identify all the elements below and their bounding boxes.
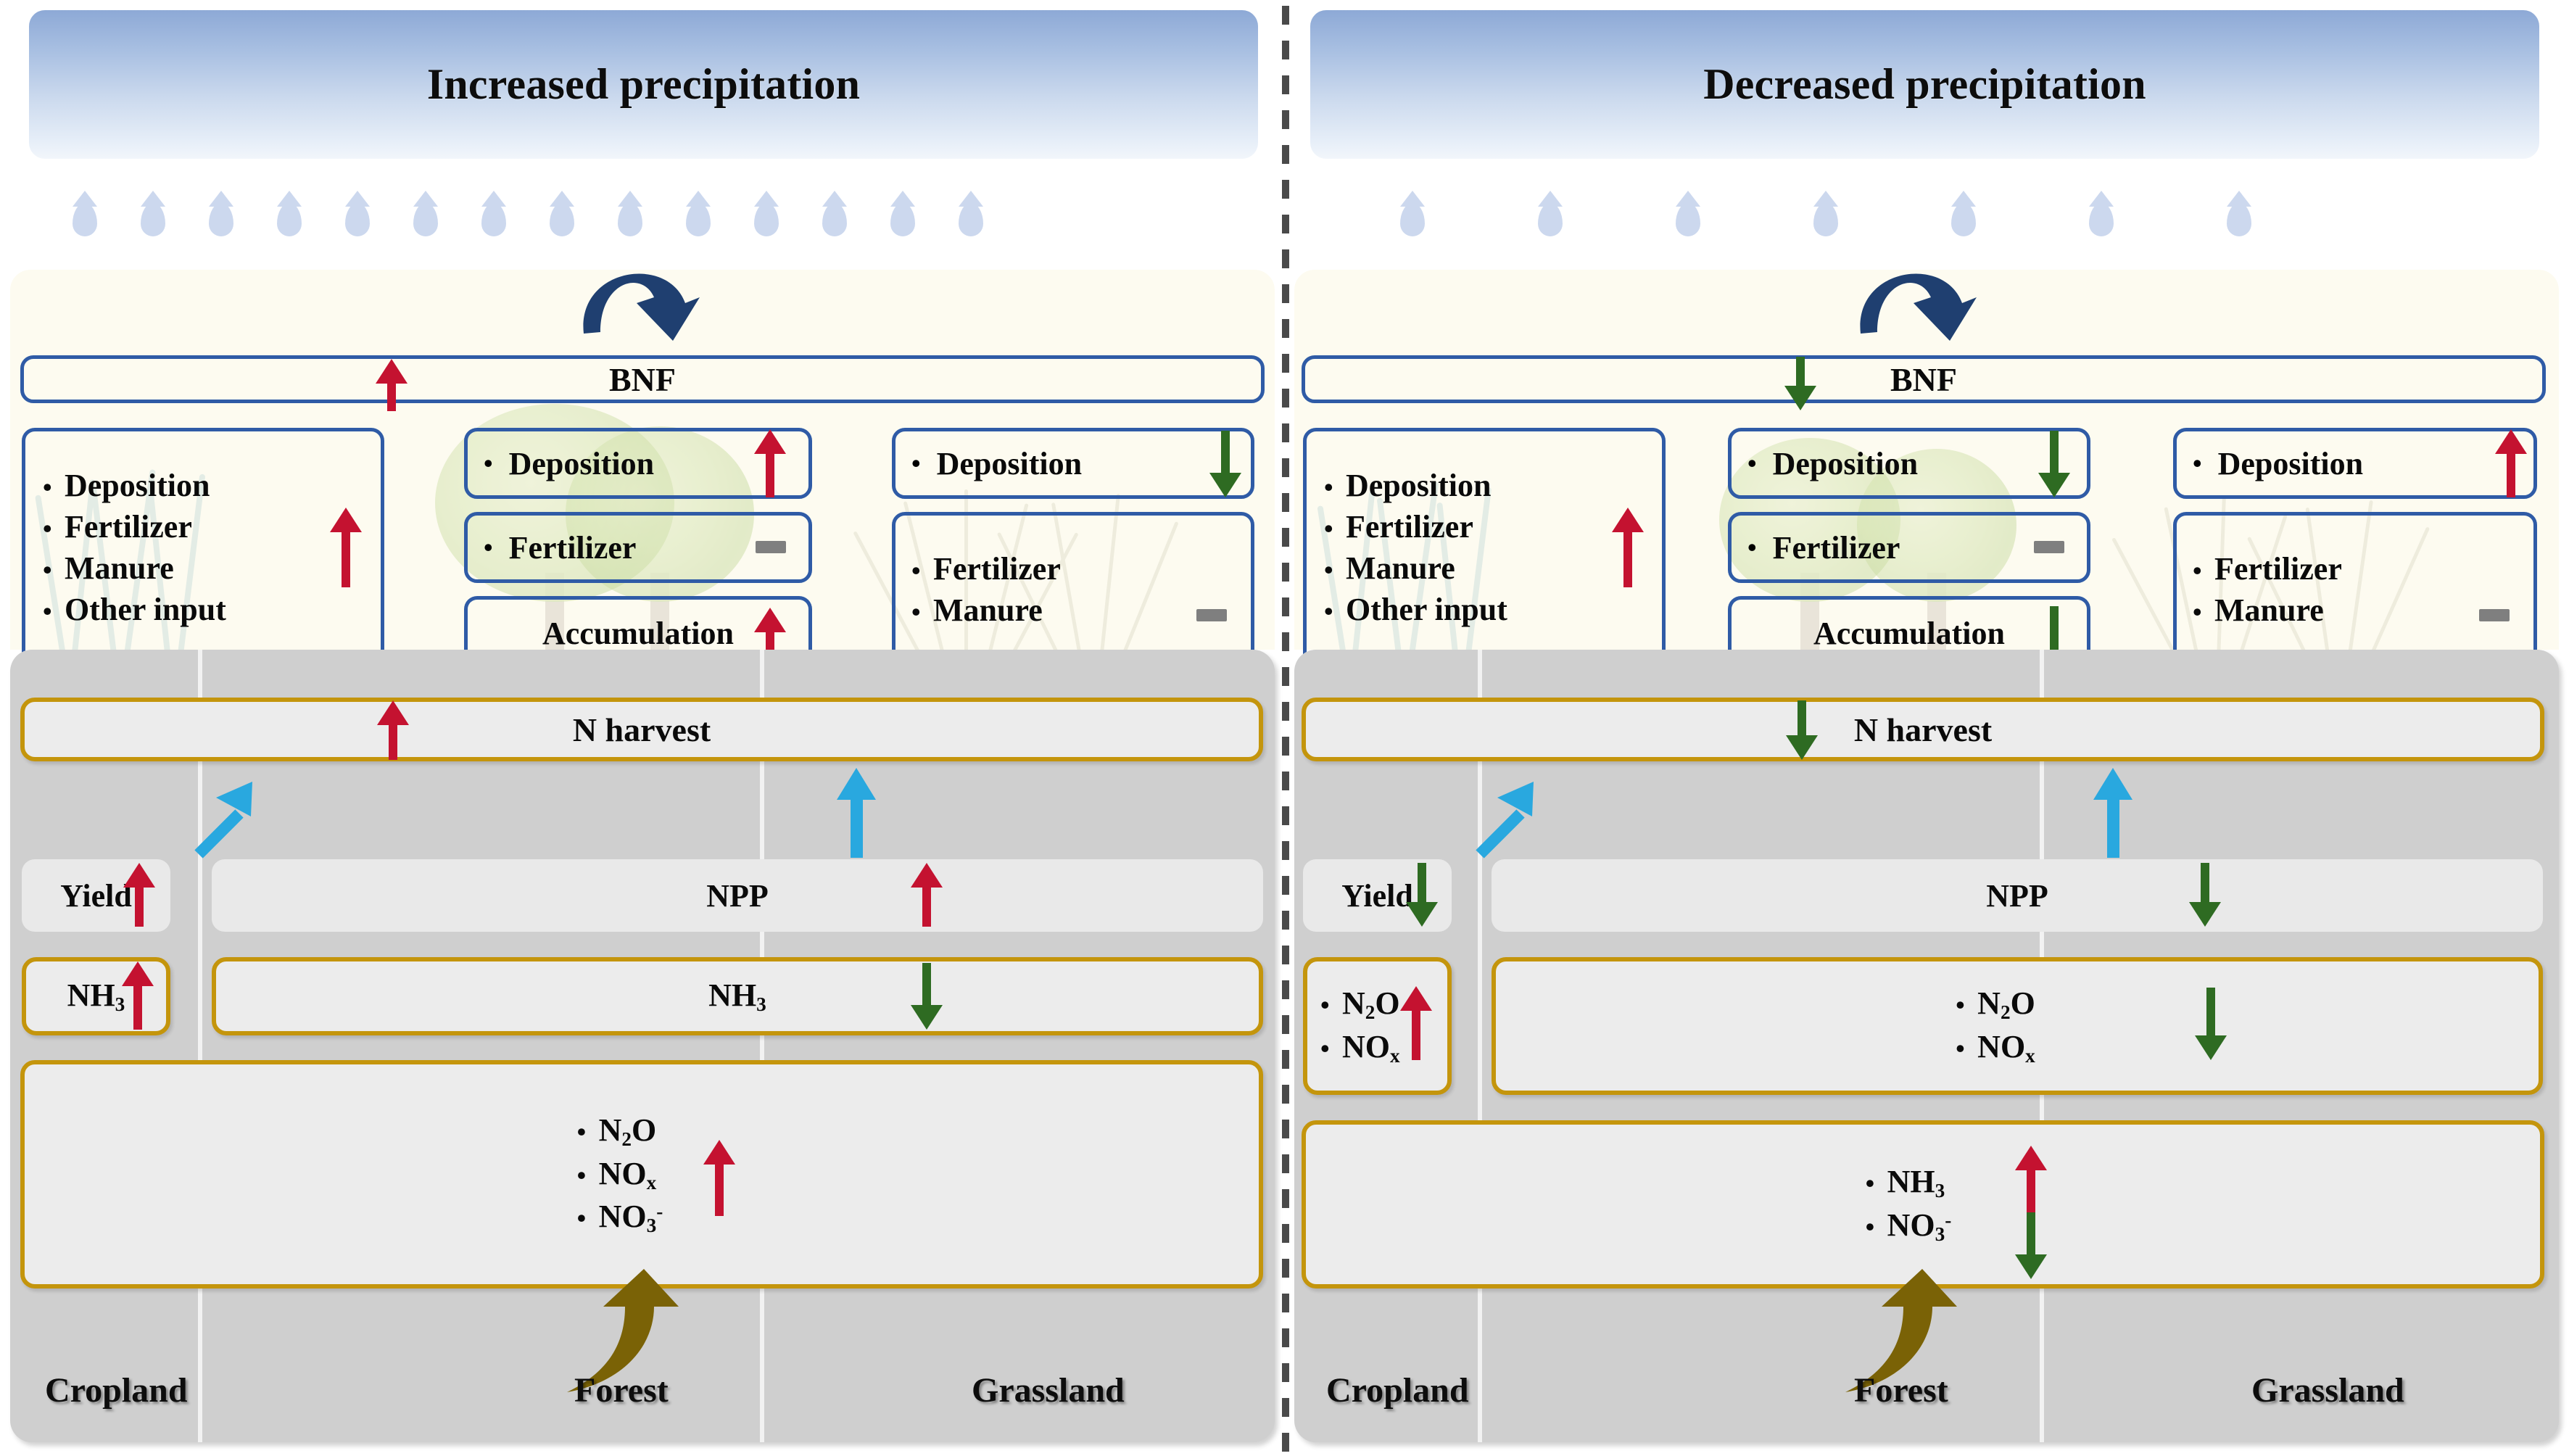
yield-label: Yield [1341, 877, 1413, 914]
n-harvest-label: N harvest [1854, 711, 1992, 749]
n-loss-increase-arrow [703, 1140, 735, 1216]
raindrop-icon [1813, 203, 1838, 236]
forest-gas-box-increased: NH3 [212, 957, 1263, 1035]
raindrop-icon [141, 203, 165, 236]
cropland-input-item: Fertilizer [65, 506, 192, 547]
raindrop-icon [413, 203, 438, 236]
bnf-box-increased: BNF [20, 355, 1265, 403]
cropland-gas-list: •N2O •NOx [1320, 983, 1400, 1069]
forest-uptake-arrow-increased [831, 765, 882, 859]
forest-deposition-decrease-arrow [2038, 431, 2070, 497]
raindrop-icon [686, 203, 711, 236]
cropland-input-item: Manure [65, 547, 174, 589]
forest-accumulation-label: Accumulation [1813, 615, 2005, 652]
bnf-decrease-arrow [1784, 357, 1816, 410]
precipitation-curved-arrow-decreased [1821, 247, 1995, 348]
grassland-input-item: Fertilizer [2214, 548, 2342, 590]
grassland-input-item: Manure [2214, 590, 2324, 631]
n-harvest-increase-arrow [377, 700, 409, 760]
forest-fertilizer-label: Fertilizer [509, 529, 637, 566]
ecosystem-label-cropland: Cropland [45, 1370, 188, 1410]
cropland-input-increase-arrow [330, 508, 362, 587]
grassland-deposition-box-decreased: • Deposition [2173, 428, 2537, 499]
n-loss-list-decreased: •NH3 •NO3- [1866, 1161, 1952, 1247]
forest-gas-decrease-arrow [911, 963, 943, 1030]
yield-decrease-arrow [1406, 863, 1438, 927]
n-loss-increase-arrow-decreased [2015, 1146, 2047, 1212]
forest-gas-list: •N2O •NOx [1956, 983, 2035, 1069]
cropland-gas-label: NH3 [67, 977, 125, 1016]
n-harvest-box-decreased: N harvest [1302, 698, 2544, 761]
grassland-input-list: •Fertilizer •Manure [2193, 548, 2342, 631]
forest-accumulation-label: Accumulation [542, 615, 734, 652]
grassland-input-no-change-dash [2479, 609, 2510, 621]
forest-gas-label: NH3 [708, 977, 766, 1016]
forest-fertilizer-no-change-dash [2034, 541, 2064, 553]
raindrop-icon [890, 203, 915, 236]
n-loss-decrease-arrow-decreased [2015, 1212, 2047, 1279]
cropland-uptake-arrow-decreased [1464, 769, 1551, 859]
n-harvest-label: N harvest [573, 711, 711, 749]
cropland-input-increase-arrow [1612, 508, 1644, 587]
grassland-deposition-increase-arrow [2495, 429, 2527, 497]
cropland-input-item: Manure [1346, 547, 1455, 589]
raindrop-icon [754, 203, 779, 236]
npp-box-increased: NPP [212, 859, 1263, 932]
cropland-input-box-decreased: •Deposition •Fertilizer •Manure •Other i… [1303, 428, 1666, 667]
grassland-deposition-decrease-arrow [1209, 431, 1241, 497]
forest-uptake-arrow-decreased [2088, 765, 2138, 859]
n-loss-item: N2O [599, 1109, 657, 1153]
increased-precipitation-title: Increased precipitation [427, 59, 860, 109]
n-harvest-decrease-arrow [1786, 700, 1818, 760]
yield-label: Yield [60, 877, 132, 914]
precipitation-curved-arrow-increased [544, 247, 718, 348]
ecosystem-label-forest: Forest [574, 1370, 669, 1410]
raindrop-icon [481, 203, 506, 236]
npp-label: NPP [1986, 877, 2048, 914]
grassland-input-item: Fertilizer [933, 548, 1061, 590]
raindrop-icon [209, 203, 233, 236]
raindrop-icon [550, 203, 574, 236]
cropland-input-item: Other input [65, 589, 226, 630]
ecosystem-label-grassland: Grassland [972, 1370, 1125, 1410]
cropland-input-item: Deposition [65, 465, 210, 506]
forest-fertilizer-no-change-dash [756, 541, 786, 553]
grassland-deposition-label: Deposition [937, 445, 1082, 482]
forest-deposition-label: Deposition [509, 445, 654, 482]
grassland-input-list: •Fertilizer •Manure [911, 548, 1061, 631]
n-harvest-box-increased: N harvest [20, 698, 1263, 761]
n-loss-box-increased: •N2O •NOx •NO3- [20, 1060, 1263, 1289]
raindrop-icon [2227, 203, 2251, 236]
grassland-input-box-increased: •Fertilizer •Manure [892, 512, 1254, 667]
n-loss-item: NO3- [599, 1196, 663, 1239]
decreased-precipitation-header: Decreased precipitation [1310, 10, 2539, 159]
cropland-gas-item: N2O [1342, 983, 1400, 1026]
raindrop-icon [1400, 203, 1425, 236]
increased-precipitation-header: Increased precipitation [29, 10, 1258, 159]
n-loss-item: NO3- [1887, 1204, 1952, 1248]
yield-increase-arrow [123, 863, 155, 927]
grassland-input-item: Manure [933, 590, 1043, 631]
cropland-gas-increase-arrow [122, 961, 154, 1030]
raindrop-icon [959, 203, 983, 236]
raindrops-increased [58, 203, 1247, 247]
ecosystem-label-forest: Forest [1854, 1370, 1948, 1410]
forest-deposition-box-decreased: • Deposition [1728, 428, 2090, 499]
cropland-uptake-arrow-increased [183, 769, 270, 859]
npp-increase-arrow [911, 863, 943, 927]
n-loss-item: NH3 [1887, 1161, 1945, 1204]
npp-decrease-arrow [2189, 863, 2221, 927]
cropland-input-item: Fertilizer [1346, 506, 1473, 547]
raindrop-icon [822, 203, 847, 236]
decreased-precipitation-title: Decreased precipitation [1703, 59, 2146, 109]
grassland-deposition-box-increased: • Deposition [892, 428, 1254, 499]
ecosystem-label-grassland: Grassland [2251, 1370, 2404, 1410]
panel-increased-precipitation: Increased precipitation [0, 0, 1285, 1456]
grassland-input-no-change-dash [1196, 609, 1227, 621]
bnf-label: BNF [609, 360, 676, 399]
raindrop-icon [345, 203, 370, 236]
grassland-deposition-label: Deposition [2218, 445, 2363, 482]
cropland-gas-item: NOx [1342, 1026, 1400, 1070]
forest-gas-item: N2O [1977, 983, 2035, 1026]
grassland-input-box-decreased: •Fertilizer •Manure [2173, 512, 2537, 667]
forest-gas-box-decreased: •N2O •NOx [1492, 957, 2543, 1095]
bnf-label: BNF [1890, 360, 1957, 399]
raindrop-icon [2089, 203, 2114, 236]
raindrop-icon [277, 203, 302, 236]
ecosystem-label-cropland: Cropland [1326, 1370, 1469, 1410]
forest-deposition-label: Deposition [1773, 445, 1918, 482]
cropland-gas-increase-arrow [1400, 986, 1432, 1060]
raindrop-icon [73, 203, 97, 236]
bnf-increase-arrow [376, 359, 408, 411]
panel-decreased-precipitation: Decreased precipitation [1284, 0, 2569, 1456]
forest-deposition-increase-arrow [754, 429, 786, 497]
npp-label: NPP [706, 877, 769, 914]
forest-fertilizer-label: Fertilizer [1773, 529, 1900, 566]
npp-box-decreased: NPP [1492, 859, 2543, 932]
cropland-input-item: Other input [1346, 589, 1507, 630]
n-loss-list-increased: •N2O •NOx •NO3- [577, 1109, 663, 1239]
raindrop-icon [1538, 203, 1563, 236]
cropland-input-list: •Deposition •Fertilizer •Manure •Other i… [43, 465, 226, 631]
raindrop-icon [1951, 203, 1976, 236]
forest-gas-decrease-arrow [2195, 988, 2227, 1060]
n-loss-item: NOx [599, 1153, 657, 1196]
forest-gas-item: NOx [1977, 1026, 2035, 1070]
raindrop-icon [1676, 203, 1700, 236]
cropland-input-item: Deposition [1346, 465, 1491, 506]
raindrop-icon [618, 203, 642, 236]
raindrops-decreased [1371, 203, 2531, 247]
cropland-input-list: •Deposition •Fertilizer •Manure •Other i… [1324, 465, 1507, 631]
bnf-box-decreased: BNF [1302, 355, 2546, 403]
